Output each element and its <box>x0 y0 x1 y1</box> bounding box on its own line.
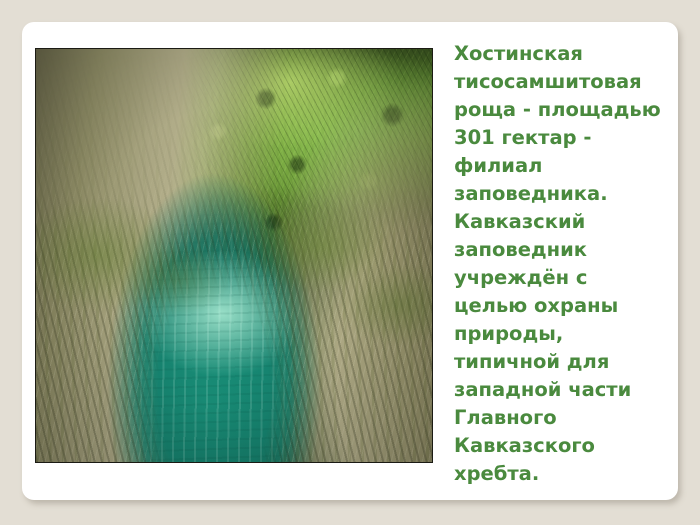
slide-card: Хостинская тисосамшитовая роща - площадь… <box>22 22 678 500</box>
caption-text: Хостинская тисосамшитовая роща - площадь… <box>454 40 666 488</box>
slide-root: Хостинская тисосамшитовая роща - площадь… <box>0 0 700 525</box>
photo-layer-vignette <box>36 49 432 462</box>
gorge-photo <box>35 48 433 463</box>
